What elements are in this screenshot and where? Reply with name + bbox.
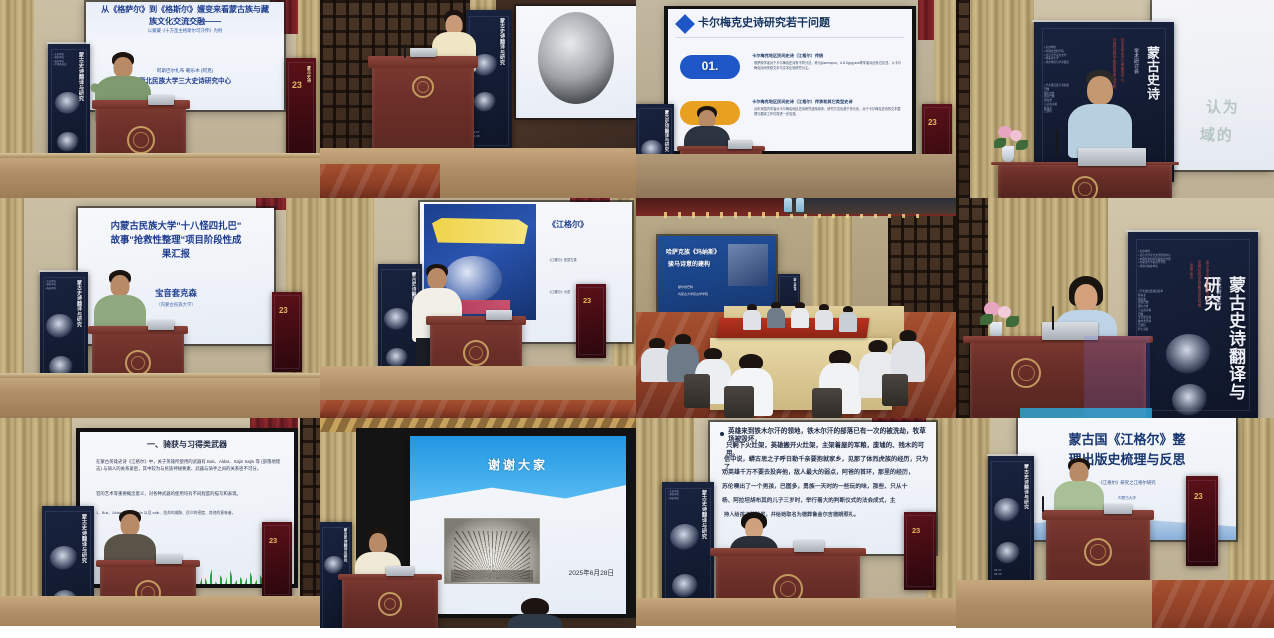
projection-screen [516,6,636,118]
collage-row-3: 一、骑获与习得类武器 在蒙古英雄史诗《江格尔》中，关于英雄所使用的武器有 Buk… [0,418,1274,638]
slide-title: 卡尔梅克史诗研究若干问题 [698,17,830,31]
slide-title: 《江格尔》 [548,220,588,230]
slide-item1-heading: 卡尔梅克地区民间史诗（江格尔）传统 [752,53,902,58]
photo-r3c1[interactable]: 一、骑获与习得类武器 在蒙古英雄史诗《江格尔》中，关于英雄所使用的武器有 Buk… [0,418,320,638]
slide-line-3: 果汇报 [78,248,274,260]
banner-sub: 学术研讨会 [1133,48,1140,74]
photo-r2c2[interactable]: 《江格尔》 《江格尔》是蒙古族 《江格尔》为蒙 蒙古史诗翻译与研究 06.270… [320,198,636,418]
banner-title: 蒙古史诗 [1143,46,1162,101]
slide-bullet-5: 苏伦噢出了一个男孩，巴图多，勇族一天时的一些玩的味，那些、只从十 [722,484,932,491]
ghost-text-1: 认为 [1206,96,1240,117]
banner-sub: 学术研讨会 [1214,278,1222,306]
photo-r1c1[interactable]: 从《格萨尔》到《格斯尔》嬗变来看蒙古族与藏 族文化交流交融—— 以蒙藏《十方圣主… [0,0,320,198]
lectern [998,162,1172,198]
photo-r2c3[interactable]: 哈萨克族《玛纳斯》 骏马诗意的建构 额尔敦巴特 内蒙古大学蒙古学学院 蒙古史诗 [636,198,956,418]
event-banner: 蒙古史诗翻译与研究 06.2706.30 [988,456,1034,586]
banner-list: ▪ 主办单位▪ 中国社会科学院▪ 北京大学东方文学▪ 内蒙古大学▪ 承办单位与学… [1044,46,1069,65]
slide-note-1: 《江格尔》是蒙古族 [548,258,626,263]
photo-r1c3[interactable]: 卡尔梅克史诗研究若干问题 01. 卡尔梅克地区民间史诗（江格尔）传统 俄罗斯学者… [636,0,956,198]
slide-title: 谢谢大家 [410,458,626,473]
projection-screen: 哈萨克族《玛纳斯》 骏马诗意的建构 额尔敦巴特 内蒙古大学蒙古学学院 [658,236,776,314]
slide-line-2: 骏马诗意的建构 [668,262,710,270]
red-poster: 23 [1186,476,1218,566]
bottom-margin [0,628,1274,638]
photo-r1c4[interactable]: 认为 域的 蒙古史诗 学术研讨会 北京大学东方文学研究中心 中国社会科学院民族文… [956,0,1274,198]
red-poster: 23 [262,522,292,598]
red-poster: 23 [576,284,606,358]
slide-body-1: 在蒙古英雄史诗《江格尔》中，关于英雄所使用的武器有 Buk、Aldar、Saji… [96,458,282,473]
slide-item2-body: 近年来国内学者对卡尔梅克地区史诗研究逐渐增多，研究方法也趋于多元化，对于卡尔梅克… [754,107,902,117]
collage-row-2: 内蒙古民族大学"十八怪四扎巴" 故事"抢救性整理"项目阶段性成 果汇报 宝音套克… [0,198,1274,418]
slide-line-2: 族文化交流交融—— [86,17,284,27]
slide-line-1: 蒙古国《江格尔》整 [1018,432,1236,448]
banner-title: 蒙古史诗翻译与研究 [78,52,85,101]
photo-r2c4[interactable]: 蒙古史诗翻译与研究 学术研讨会 北京大学东方文学研究中心 中国社会科学院民族文学… [956,198,1274,418]
slide-bullet-4: 劝英雄千万不要去投奔他，敌人最大的弱点，阿爸的首环，那里的经历， [722,470,932,478]
slide-line-2: 理出版史梳理与反思 [1018,452,1236,468]
photo-r3c2[interactable]: 谢谢大家 2025年6月28日 蒙古史诗翻译与研究 [320,418,636,638]
slide-line-1: 内蒙古民族大学"十八怪四扎巴" [78,220,274,232]
banner-list: ▪ 主办单位▪ 北京大学东方文学研究中心▪ 中国社会科学院民族文学所▪ 内蒙古大… [1138,250,1171,269]
slide-line-1: 哈萨克族《玛纳斯》 [666,250,720,258]
photo-r3c4[interactable]: 蒙古国《江格尔》整 理出版史梳理与反思 《江格尔》研究之江格尔研究 内蒙古大学 … [956,418,1274,638]
speaker [1066,70,1134,156]
banner-list: ▪ 主办单位▪ 承办单位▪ 协办单位▪ 学术委员会 [53,53,66,67]
slide-item1-number: 01. [680,59,740,74]
photo-collage: 从《格萨尔》到《格斯尔》嬗变来看蒙古族与藏 族文化交流交融—— 以蒙藏《十方圣主… [0,0,1274,638]
collage-row-1: 从《格萨尔》到《格斯尔》嬗变来看蒙古族与藏 族文化交流交融—— 以蒙藏《十方圣主… [0,0,1274,198]
banner-title: 蒙古史诗翻译与研究 [499,18,506,65]
slide-line-3: 以蒙藏《十方圣主格斯尔可汗传》为例 [86,28,284,34]
slide-line-2: 故事"抢救性整理"项目阶段性成 [78,234,274,246]
slide-affiliation: 内蒙古大学蒙古学学院 [678,293,708,297]
slide-item1-body: 俄罗斯学者对于卡尔梅克史诗有不同分法，称为Джангарчи，А.В.Бурду… [754,61,902,71]
photo-r3c3[interactable]: 英雄来到铁木尔汗的领地，铁木尔汗的部落已有一次的被洗劫，牧草场被毁坏， 只剩下火… [636,418,956,638]
photo-r2c1[interactable]: 内蒙古民族大学"十八怪四扎巴" 故事"抢救性整理"项目阶段性成 果汇报 宝音套克… [0,198,320,418]
red-poster: 23 [272,292,302,372]
red-poster: 23 蒙古史诗 [286,58,316,164]
flower-vase [1002,146,1014,162]
slide-bullet-6: 杨、阿拉坦胡布其的儿子三岁时，举行着大的判断仪式的法会成式，主 [722,498,932,505]
photo-r1c2[interactable]: 蒙古史诗翻译与研究 06.2706.30 [320,0,636,198]
red-poster: 23 [904,512,936,590]
slide-item2-heading: 卡尔梅克地区民间史诗（江格尔）传承和其它类型史诗 [752,99,902,104]
slide-date: 2025年6月28日 [410,570,626,578]
slide-author: 额尔敦巴特 [678,286,693,290]
slide-line-1: 从《格萨尔》到《格斯尔》嬗变来看蒙古族与藏 [86,5,284,15]
slide-heading: 一、骑获与习得类武器 [80,440,294,450]
banner-org: 北京大学东方文学研究中心 [1205,260,1210,301]
ghost-text-2: 域的 [1200,124,1234,145]
slide-body-2: 官的艺术等重要概念意义，对各种武器的使用均有不同程度的描写和表现。 [96,490,282,497]
projection-screen: 谢谢大家 2025年6月28日 [410,436,626,614]
